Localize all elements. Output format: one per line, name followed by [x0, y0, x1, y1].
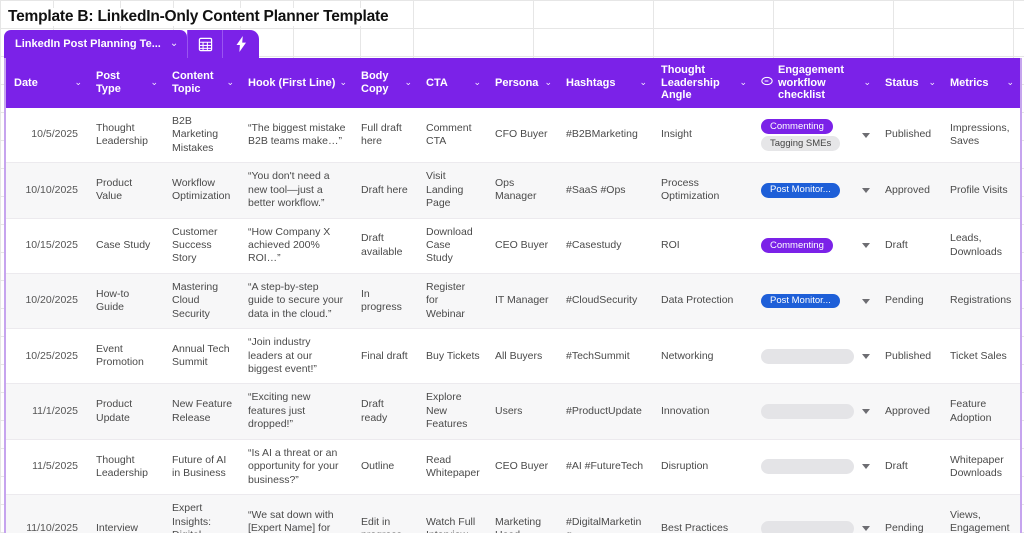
cell-cta[interactable]: Buy Tickets [418, 329, 487, 384]
column-header-cta[interactable]: CTA ⌄ [418, 58, 487, 108]
chevron-down-icon[interactable]: ⌄ [226, 78, 234, 87]
cell-metrics[interactable]: Whitepaper Downloads [942, 439, 1020, 494]
cell-post-type[interactable]: Case Study [88, 218, 164, 273]
cell-metrics[interactable]: Ticket Sales [942, 329, 1020, 384]
table-row[interactable]: 10/15/2025Case StudyCustomer Success Sto… [6, 218, 1020, 273]
cell-hook[interactable]: “Join industry leaders at our biggest ev… [240, 329, 353, 384]
cell-body-copy[interactable]: In progress [353, 273, 418, 328]
cell-content-topic[interactable]: New Feature Release [164, 384, 240, 439]
cell-body-copy[interactable]: Outline [353, 439, 418, 494]
column-header-label: Status [885, 77, 919, 90]
chevron-down-icon[interactable] [862, 526, 870, 531]
cell-status[interactable]: Approved [877, 163, 942, 218]
chevron-down-icon[interactable]: ⌄ [150, 78, 158, 87]
chevron-down-icon[interactable]: ⌄ [339, 78, 347, 87]
column-header-label: Thought Leadership Angle [661, 64, 735, 102]
workflow-pill-stack [761, 404, 854, 419]
table-row[interactable]: 11/10/2025InterviewExpert Insights: Digi… [6, 495, 1020, 533]
column-header-status[interactable]: Status ⌄ [877, 58, 942, 108]
engagement-workflow-control[interactable]: CommentingTagging SMEs [761, 119, 870, 151]
automations-button[interactable] [222, 30, 259, 58]
chevron-down-icon[interactable]: ⌄ [544, 78, 552, 87]
workflow-pill-empty[interactable] [761, 521, 854, 533]
cell-content-topic[interactable]: B2B Marketing Mistakes [164, 108, 240, 163]
workflow-pill[interactable]: Post Monitor... [761, 183, 840, 198]
column-header-label: Hashtags [566, 77, 616, 90]
page-title: Template B: LinkedIn-Only Content Planne… [8, 8, 394, 26]
column-header-hashtags[interactable]: Hashtags ⌄ [558, 58, 653, 108]
column-header-post-type[interactable]: Post Type ⌄ [88, 58, 164, 108]
cell-post-type[interactable]: Product Value [88, 163, 164, 218]
cell-thought-leadership-angle[interactable]: Innovation [653, 384, 753, 439]
column-header-body-copy[interactable]: Body Copy ⌄ [353, 58, 418, 108]
column-header-hook[interactable]: Hook (First Line) ⌄ [240, 58, 353, 108]
chevron-down-icon[interactable]: ⌄ [74, 78, 82, 87]
tab-linkedin-post-planning[interactable]: LinkedIn Post Planning Te... ⌄ [4, 30, 187, 58]
workflow-pill[interactable]: Commenting [761, 119, 833, 134]
cell-persona[interactable]: Marketing Head [487, 495, 558, 533]
cell-thought-leadership-angle[interactable]: Data Protection [653, 273, 753, 328]
cell-hook[interactable]: “The biggest mistake B2B teams make…” [240, 108, 353, 163]
chevron-down-icon[interactable] [862, 464, 870, 469]
cell-engagement-workflow[interactable]: Post Monitor... [753, 163, 877, 218]
cell-hashtags[interactable]: #B2BMarketing [558, 108, 653, 163]
engagement-workflow-control[interactable] [761, 459, 870, 474]
table-header-row: Date ⌄ Post Type ⌄ [6, 58, 1020, 108]
table-row[interactable]: 11/5/2025Thought LeadershipFuture of AI … [6, 439, 1020, 494]
chevron-down-icon[interactable] [862, 409, 870, 414]
workflow-pill-stack [761, 349, 854, 364]
spreadsheet-app: Template B: LinkedIn-Only Content Planne… [0, 0, 1024, 533]
engagement-workflow-control[interactable] [761, 349, 870, 364]
cell-post-type[interactable]: Product Update [88, 384, 164, 439]
cell-engagement-workflow[interactable]: Commenting [753, 218, 877, 273]
cell-status[interactable]: Draft [877, 218, 942, 273]
cell-hashtags[interactable]: #DigitalMarketing [558, 495, 653, 533]
cell-cta[interactable]: Explore New Features [418, 384, 487, 439]
cell-post-type[interactable]: How-to Guide [88, 273, 164, 328]
tab-label: LinkedIn Post Planning Te... [15, 38, 161, 50]
column-header-label: Date [14, 77, 38, 90]
cell-engagement-workflow[interactable]: Post Monitor... [753, 273, 877, 328]
cell-cta[interactable]: Download Case Study [418, 218, 487, 273]
cell-body-copy[interactable]: Draft ready [353, 384, 418, 439]
cell-cta[interactable]: Visit Landing Page [418, 163, 487, 218]
chevron-down-icon[interactable]: ⌄ [739, 78, 747, 87]
lightning-bolt-icon [235, 36, 248, 52]
cell-thought-leadership-angle[interactable]: Best Practices [653, 495, 753, 533]
chevron-down-icon[interactable]: ⌄ [404, 78, 412, 87]
spreadsheet-icon [198, 37, 213, 52]
engagement-workflow-control[interactable] [761, 521, 870, 533]
cell-hook[interactable]: “Exciting new features just dropped!” [240, 384, 353, 439]
workflow-pill[interactable]: Tagging SMEs [761, 136, 840, 151]
cell-metrics[interactable]: Feature Adoption [942, 384, 1020, 439]
column-header-label: CTA [426, 77, 448, 90]
column-header-engagement-workflow-checklist[interactable]: Engagement workflow checklist ⌄ [753, 58, 877, 108]
cell-body-copy[interactable]: Draft here [353, 163, 418, 218]
cell-thought-leadership-angle[interactable]: ROI [653, 218, 753, 273]
cell-thought-leadership-angle[interactable]: Insight [653, 108, 753, 163]
table-row[interactable]: 10/10/2025Product ValueWorkflow Optimiza… [6, 163, 1020, 218]
chevron-down-icon[interactable] [862, 133, 870, 138]
chevron-down-icon[interactable] [862, 243, 870, 248]
workflow-pill-empty[interactable] [761, 349, 854, 364]
table-row[interactable]: 10/25/2025Event PromotionAnnual Tech Sum… [6, 329, 1020, 384]
cell-persona[interactable]: All Buyers [487, 329, 558, 384]
cell-hashtags[interactable]: #ProductUpdate [558, 384, 653, 439]
workflow-pill[interactable]: Commenting [761, 238, 833, 253]
cell-cta[interactable]: Read Whitepaper [418, 439, 487, 494]
cell-metrics[interactable]: Profile Visits [942, 163, 1020, 218]
engagement-workflow-control[interactable]: Commenting [761, 238, 870, 253]
workflow-pill-stack: CommentingTagging SMEs [761, 119, 854, 151]
table-row[interactable]: 11/1/2025Product UpdateNew Feature Relea… [6, 384, 1020, 439]
cell-body-copy[interactable]: Final draft [353, 329, 418, 384]
workflow-pill-stack: Post Monitor... [761, 183, 854, 198]
cell-date[interactable]: 10/20/2025 [6, 273, 88, 328]
chevron-down-icon[interactable]: ⌄ [863, 78, 871, 87]
chevron-down-icon[interactable] [862, 188, 870, 193]
chevron-down-icon[interactable]: ⌄ [928, 78, 936, 87]
chevron-down-icon[interactable] [862, 299, 870, 304]
chevron-down-icon[interactable]: ⌄ [1006, 78, 1014, 87]
column-header-label: Post Type [96, 70, 146, 95]
column-header-label: Persona [495, 77, 538, 90]
cell-content-topic[interactable]: Expert Insights: Digital Marketing [164, 495, 240, 533]
cell-post-type[interactable]: Thought Leadership [88, 108, 164, 163]
cell-persona[interactable]: CFO Buyer [487, 108, 558, 163]
tab-bar: LinkedIn Post Planning Te... ⌄ [4, 30, 259, 58]
cell-content-topic[interactable]: Mastering Cloud Security [164, 273, 240, 328]
cell-hashtags[interactable]: #CloudSecurity [558, 273, 653, 328]
workflow-pill-stack: Commenting [761, 238, 854, 253]
cell-hashtags[interactable]: #SaaS #Ops [558, 163, 653, 218]
cell-hook[interactable]: “A step-by-step guide to secure your dat… [240, 273, 353, 328]
cell-date[interactable]: 10/5/2025 [6, 108, 88, 163]
cell-cta[interactable]: Register for Webinar [418, 273, 487, 328]
cell-date[interactable]: 11/5/2025 [6, 439, 88, 494]
cell-persona[interactable]: CEO Buyer [487, 439, 558, 494]
column-header-label: Metrics [950, 77, 989, 90]
workflow-pill[interactable]: Post Monitor... [761, 294, 840, 309]
cell-metrics[interactable]: Registrations [942, 273, 1020, 328]
cell-content-topic[interactable]: Future of AI in Business [164, 439, 240, 494]
cell-status[interactable]: Published [877, 108, 942, 163]
cell-status[interactable]: Pending [877, 273, 942, 328]
cell-metrics[interactable]: Impressions, Saves [942, 108, 1020, 163]
cell-engagement-workflow[interactable] [753, 439, 877, 494]
cell-hook[interactable]: “We sat down with [Expert Name] for thei… [240, 495, 353, 533]
column-header-metrics[interactable]: Metrics ⌄ [942, 58, 1020, 108]
cell-content-topic[interactable]: Workflow Optimization [164, 163, 240, 218]
cell-date[interactable]: 11/10/2025 [6, 495, 88, 533]
column-header-date[interactable]: Date ⌄ [6, 58, 88, 108]
workflow-pill-stack [761, 521, 854, 533]
column-header-label: Body Copy [361, 70, 400, 95]
workflow-pill-empty[interactable] [761, 459, 854, 474]
cell-date[interactable]: 11/1/2025 [6, 384, 88, 439]
workflow-pill-stack [761, 459, 854, 474]
table-body: 10/5/2025Thought LeadershipB2B Marketing… [6, 108, 1020, 533]
data-table: Date ⌄ Post Type ⌄ [4, 58, 1022, 533]
cell-content-topic[interactable]: Customer Success Story [164, 218, 240, 273]
chevron-down-icon[interactable]: ⌄ [170, 38, 178, 49]
cell-post-type[interactable]: Interview [88, 495, 164, 533]
cell-date[interactable]: 10/15/2025 [6, 218, 88, 273]
cell-persona[interactable]: Ops Manager [487, 163, 558, 218]
cell-hook[interactable]: “How Company X achieved 200% ROI…” [240, 218, 353, 273]
cell-cta[interactable]: Watch Full Interview [418, 495, 487, 533]
cell-date[interactable]: 10/10/2025 [6, 163, 88, 218]
column-header-persona[interactable]: Persona ⌄ [487, 58, 558, 108]
cell-persona[interactable]: Users [487, 384, 558, 439]
cell-metrics[interactable]: Views, Engagement Rate [942, 495, 1020, 533]
cell-date[interactable]: 10/25/2025 [6, 329, 88, 384]
cell-body-copy[interactable]: Draft available [353, 218, 418, 273]
cell-post-type[interactable]: Thought Leadership [88, 439, 164, 494]
column-header-label: Engagement workflow checklist [778, 64, 859, 102]
column-header-label: Content Topic [172, 70, 222, 95]
cell-engagement-workflow[interactable] [753, 495, 877, 533]
cell-status[interactable]: Draft [877, 439, 942, 494]
cell-persona[interactable]: CEO Buyer [487, 218, 558, 273]
cell-hook[interactable]: “You don't need a new tool—just a better… [240, 163, 353, 218]
cell-post-type[interactable]: Event Promotion [88, 329, 164, 384]
tag-oval-icon [761, 75, 773, 91]
chevron-down-icon[interactable]: ⌄ [639, 78, 647, 87]
cell-engagement-workflow[interactable]: CommentingTagging SMEs [753, 108, 877, 163]
engagement-workflow-control[interactable]: Post Monitor... [761, 294, 870, 309]
column-header-thought-leadership-angle[interactable]: Thought Leadership Angle ⌄ [653, 58, 753, 108]
table-row[interactable]: 10/5/2025Thought LeadershipB2B Marketing… [6, 108, 1020, 163]
cell-engagement-workflow[interactable] [753, 384, 877, 439]
column-header-content-topic[interactable]: Content Topic ⌄ [164, 58, 240, 108]
engagement-workflow-control[interactable]: Post Monitor... [761, 183, 870, 198]
cell-hook[interactable]: “Is AI a threat or an opportunity for yo… [240, 439, 353, 494]
cell-engagement-workflow[interactable] [753, 329, 877, 384]
chevron-down-icon[interactable] [862, 354, 870, 359]
cell-hashtags[interactable]: #Casestudy [558, 218, 653, 273]
cell-body-copy[interactable]: Full draft here [353, 108, 418, 163]
cell-thought-leadership-angle[interactable]: Networking [653, 329, 753, 384]
engagement-workflow-control[interactable] [761, 404, 870, 419]
cell-content-topic[interactable]: Annual Tech Summit [164, 329, 240, 384]
workflow-pill-empty[interactable] [761, 404, 854, 419]
spreadsheet-icon-button[interactable] [187, 30, 222, 58]
cell-status[interactable]: Pending [877, 495, 942, 533]
table-row[interactable]: 10/20/2025How-to GuideMastering Cloud Se… [6, 273, 1020, 328]
cell-status[interactable]: Published [877, 329, 942, 384]
cell-hashtags[interactable]: #AI #FutureTech [558, 439, 653, 494]
cell-status[interactable]: Approved [877, 384, 942, 439]
cell-cta[interactable]: Comment CTA [418, 108, 487, 163]
cell-body-copy[interactable]: Edit in progress [353, 495, 418, 533]
cell-hashtags[interactable]: #TechSummit [558, 329, 653, 384]
cell-metrics[interactable]: Leads, Downloads [942, 218, 1020, 273]
workflow-pill-stack: Post Monitor... [761, 294, 854, 309]
chevron-down-icon[interactable]: ⌄ [473, 78, 481, 87]
column-header-label: Hook (First Line) [248, 77, 335, 90]
cell-thought-leadership-angle[interactable]: Disruption [653, 439, 753, 494]
cell-persona[interactable]: IT Manager [487, 273, 558, 328]
cell-thought-leadership-angle[interactable]: Process Optimization [653, 163, 753, 218]
